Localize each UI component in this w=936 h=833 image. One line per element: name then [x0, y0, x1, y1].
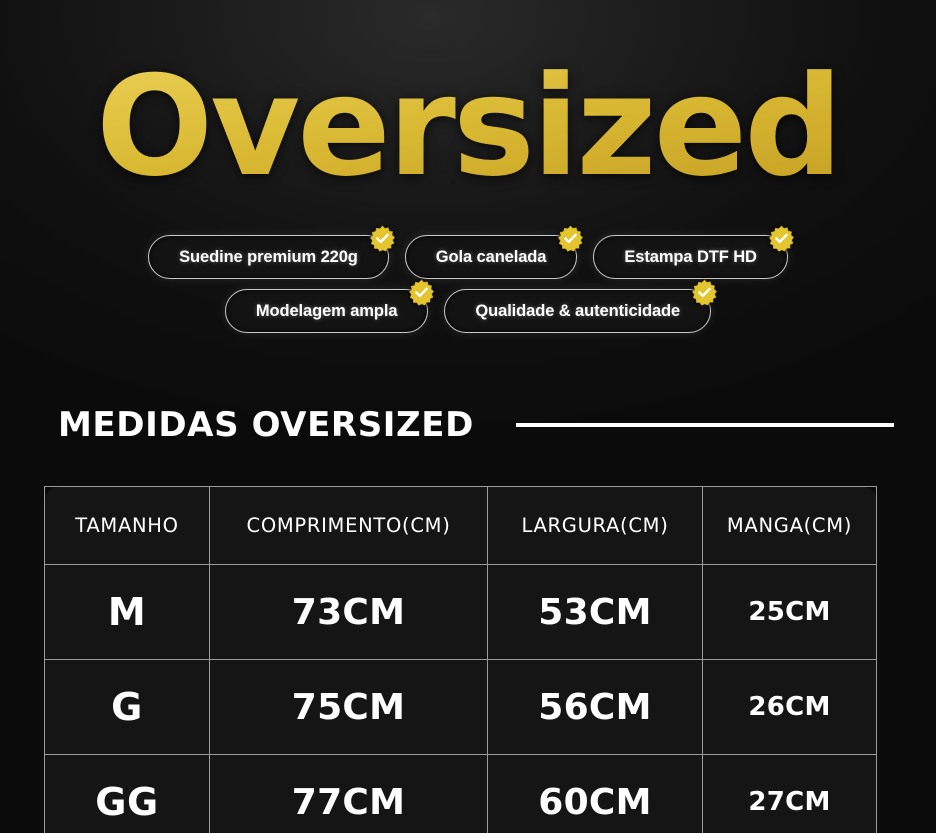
- column-header-label: MANGA(CM): [727, 514, 852, 537]
- cell-value: 53CM: [538, 592, 652, 633]
- cell-value: 56CM: [538, 687, 652, 728]
- cell-value: M: [108, 590, 146, 634]
- feature-badge-row-2: Modelagem ampla Qualidade & autenticidad…: [0, 289, 936, 333]
- cell-value: 75CM: [292, 687, 406, 728]
- column-header-tamanho: TAMANHO: [45, 487, 210, 565]
- table-row: G 75CM 56CM 26CM: [45, 660, 877, 755]
- cell-width: 60CM: [488, 755, 703, 833]
- column-header-manga: MANGA(CM): [703, 487, 877, 565]
- size-guide-page: Oversized Suedine premium 220g Gola cane…: [0, 0, 936, 833]
- feature-badges: Suedine premium 220g Gola canelada: [0, 235, 936, 333]
- verified-check-seal-icon: [691, 279, 718, 306]
- cell-size: GG: [45, 755, 210, 833]
- cell-sleeve: 25CM: [703, 565, 877, 660]
- cell-size: G: [45, 660, 210, 755]
- cell-sleeve: 26CM: [703, 660, 877, 755]
- feature-badge-label: Estampa DTF HD: [624, 248, 756, 267]
- measurements-heading: MEDIDAS OVERSIZED: [58, 405, 878, 445]
- feature-badge-label: Suedine premium 220g: [179, 248, 358, 267]
- cell-width: 53CM: [488, 565, 703, 660]
- measurements-table: TAMANHO COMPRIMENTO(CM) LARGURA(CM) MANG…: [44, 486, 877, 833]
- verified-check-seal-icon: [369, 225, 396, 252]
- cell-sleeve: 27CM: [703, 755, 877, 833]
- column-header-label: LARGURA(CM): [521, 514, 668, 537]
- feature-badge-label: Qualidade & autenticidade: [475, 302, 680, 321]
- cell-value: 25CM: [748, 597, 830, 627]
- cell-value: 77CM: [292, 782, 406, 823]
- column-header-label: TAMANHO: [75, 514, 178, 537]
- feature-badge-estampa[interactable]: Estampa DTF HD: [593, 235, 787, 279]
- cell-value: 27CM: [748, 787, 830, 817]
- feature-badge-label: Modelagem ampla: [256, 302, 398, 321]
- feature-badge-qualidade[interactable]: Qualidade & autenticidade: [444, 289, 711, 333]
- page-title: Oversized: [0, 58, 936, 196]
- cell-length: 73CM: [210, 565, 488, 660]
- feature-badge-gola[interactable]: Gola canelada: [405, 235, 578, 279]
- cell-value: 60CM: [538, 782, 652, 823]
- section-title: MEDIDAS OVERSIZED: [58, 405, 474, 445]
- verified-check-seal-icon: [557, 225, 584, 252]
- cell-width: 56CM: [488, 660, 703, 755]
- cell-value: 73CM: [292, 592, 406, 633]
- table-row: GG 77CM 60CM 27CM: [45, 755, 877, 833]
- cell-value: 26CM: [748, 692, 830, 722]
- verified-check-seal-icon: [768, 225, 795, 252]
- cell-length: 77CM: [210, 755, 488, 833]
- feature-badge-row-1: Suedine premium 220g Gola canelada: [0, 235, 936, 279]
- heading-divider: [516, 423, 894, 427]
- cell-value: G: [111, 685, 143, 729]
- column-header-label: COMPRIMENTO(CM): [247, 514, 451, 537]
- feature-badge-suedine[interactable]: Suedine premium 220g: [148, 235, 389, 279]
- hero-section: Oversized: [0, 58, 936, 196]
- cell-size: M: [45, 565, 210, 660]
- column-header-largura: LARGURA(CM): [488, 487, 703, 565]
- feature-badge-label: Gola canelada: [436, 248, 547, 267]
- feature-badge-modelagem[interactable]: Modelagem ampla: [225, 289, 429, 333]
- column-header-comprimento: COMPRIMENTO(CM): [210, 487, 488, 565]
- table-row: M 73CM 53CM 25CM: [45, 565, 877, 660]
- cell-length: 75CM: [210, 660, 488, 755]
- cell-value: GG: [95, 780, 158, 824]
- verified-check-seal-icon: [408, 279, 435, 306]
- table-header-row: TAMANHO COMPRIMENTO(CM) LARGURA(CM) MANG…: [45, 487, 877, 565]
